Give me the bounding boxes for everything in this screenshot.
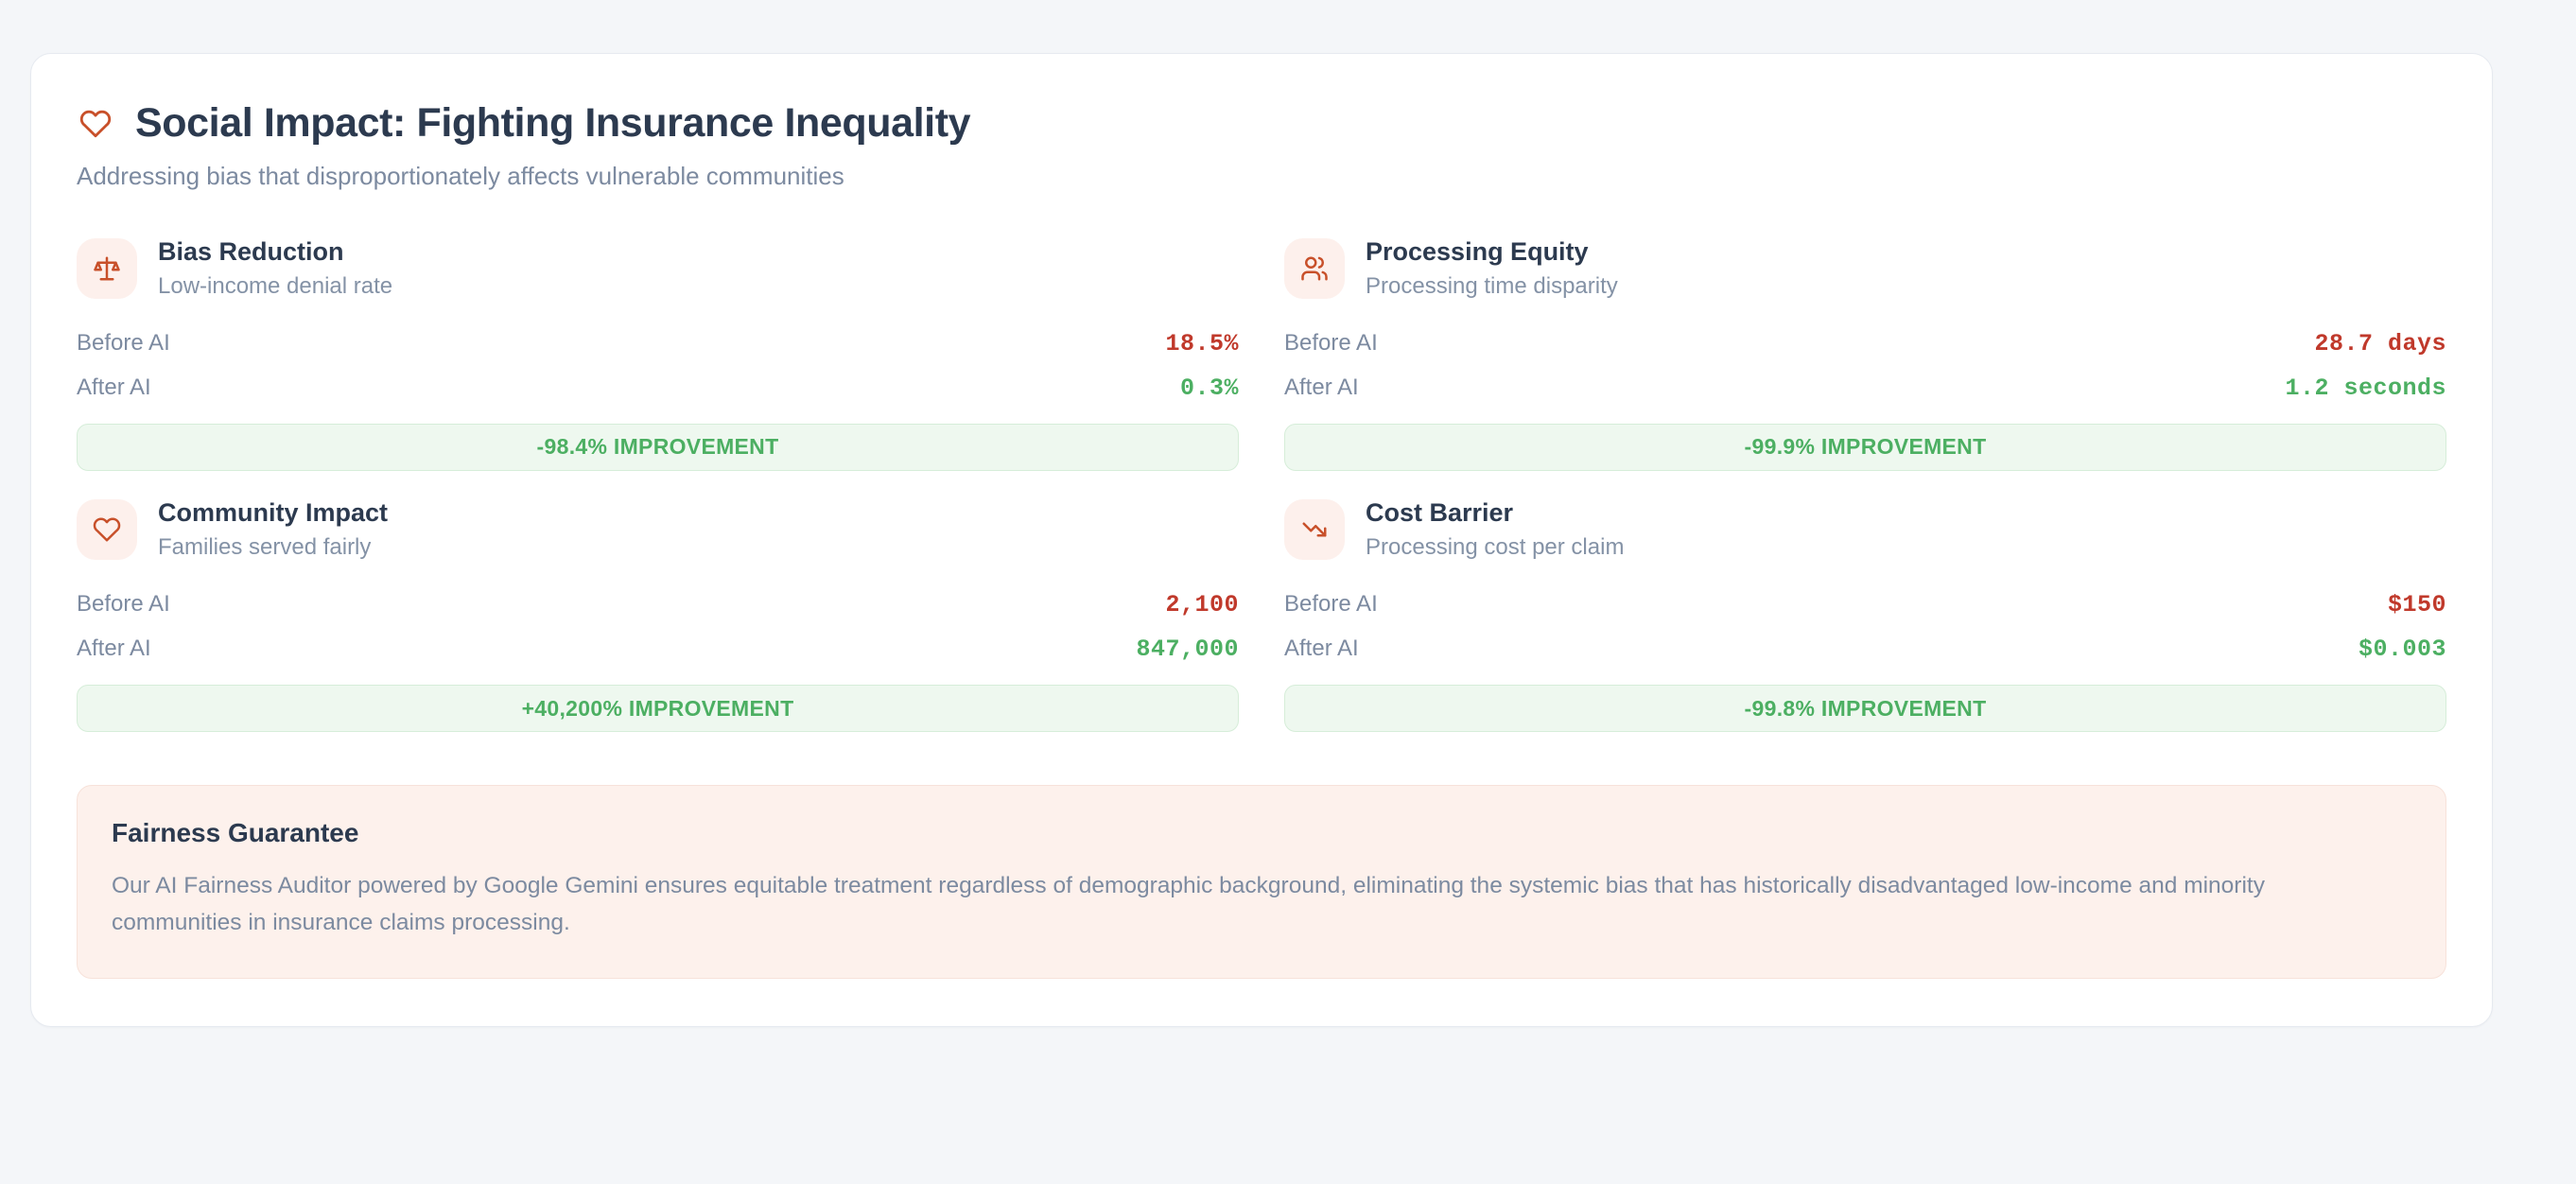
users-icon <box>1284 238 1345 299</box>
scales-icon <box>77 238 137 299</box>
before-label: Before AI <box>77 330 170 357</box>
metric-row: After AI 1.2 seconds <box>1284 366 2446 410</box>
after-value: $0.003 <box>2358 636 2446 663</box>
metric-name: Community Impact <box>158 497 388 528</box>
before-value: 2,100 <box>1165 591 1239 618</box>
after-label: After AI <box>1284 374 1359 401</box>
metric-card-community-impact: Community Impact Families served fairly … <box>77 497 1239 758</box>
fairness-guarantee-panel: Fairness Guarantee Our AI Fairness Audit… <box>77 785 2446 978</box>
metric-rows: Before AI 28.7 days After AI 1.2 seconds <box>1284 322 2446 410</box>
metric-titles: Community Impact Families served fairly <box>158 497 388 562</box>
before-label: Before AI <box>1284 330 1378 357</box>
after-value: 1.2 seconds <box>2285 374 2446 402</box>
page-root: Social Impact: Fighting Insurance Inequa… <box>0 0 2576 1027</box>
metric-rows: Before AI 18.5% After AI 0.3% <box>77 322 1239 410</box>
metric-description: Low-income denial rate <box>158 273 392 301</box>
page-title: Social Impact: Fighting Insurance Inequa… <box>135 103 970 144</box>
metric-name: Cost Barrier <box>1366 497 1624 528</box>
metric-titles: Cost Barrier Processing cost per claim <box>1366 497 1624 562</box>
metric-description: Families served fairly <box>158 534 388 562</box>
panel-header: Social Impact: Fighting Insurance Inequa… <box>77 103 2446 144</box>
improvement-badge: +40,200% IMPROVEMENT <box>77 685 1239 732</box>
metric-row: After AI 0.3% <box>77 366 1239 410</box>
metric-header: Bias Reduction Low-income denial rate <box>77 236 1239 301</box>
after-value: 847,000 <box>1136 636 1239 663</box>
metric-row: Before AI $150 <box>1284 583 2446 627</box>
after-label: After AI <box>1284 636 1359 662</box>
metric-row: Before AI 18.5% <box>77 322 1239 366</box>
before-value: $150 <box>2388 591 2446 618</box>
before-label: Before AI <box>77 591 170 618</box>
metric-card-cost-barrier: Cost Barrier Processing cost per claim B… <box>1284 497 2446 758</box>
metric-card-processing-equity: Processing Equity Processing time dispar… <box>1284 236 2446 497</box>
improvement-badge: -99.9% IMPROVEMENT <box>1284 424 2446 471</box>
before-value: 18.5% <box>1165 330 1239 357</box>
metric-description: Processing cost per claim <box>1366 534 1624 562</box>
heart-icon <box>77 499 137 560</box>
fairness-title: Fairness Guarantee <box>112 818 2411 848</box>
page-subtitle: Addressing bias that disproportionately … <box>77 161 2446 193</box>
after-value: 0.3% <box>1180 374 1239 402</box>
heart-icon <box>77 105 114 143</box>
metric-card-bias-reduction: Bias Reduction Low-income denial rate Be… <box>77 236 1239 497</box>
metric-row: After AI 847,000 <box>77 627 1239 671</box>
improvement-badge: -99.8% IMPROVEMENT <box>1284 685 2446 732</box>
after-label: After AI <box>77 636 151 662</box>
social-impact-panel: Social Impact: Fighting Insurance Inequa… <box>30 53 2493 1027</box>
metric-row: Before AI 28.7 days <box>1284 322 2446 366</box>
metric-row: Before AI 2,100 <box>77 583 1239 627</box>
metric-name: Processing Equity <box>1366 236 1618 267</box>
before-value: 28.7 days <box>2314 330 2446 357</box>
trending-down-icon <box>1284 499 1345 560</box>
metric-header: Community Impact Families served fairly <box>77 497 1239 562</box>
after-label: After AI <box>77 374 151 401</box>
metric-header: Processing Equity Processing time dispar… <box>1284 236 2446 301</box>
metric-titles: Processing Equity Processing time dispar… <box>1366 236 1618 301</box>
metric-header: Cost Barrier Processing cost per claim <box>1284 497 2446 562</box>
metric-row: After AI $0.003 <box>1284 627 2446 671</box>
improvement-badge: -98.4% IMPROVEMENT <box>77 424 1239 471</box>
metric-rows: Before AI 2,100 After AI 847,000 <box>77 583 1239 671</box>
metric-description: Processing time disparity <box>1366 273 1618 301</box>
metric-name: Bias Reduction <box>158 236 392 267</box>
metric-rows: Before AI $150 After AI $0.003 <box>1284 583 2446 671</box>
metric-titles: Bias Reduction Low-income denial rate <box>158 236 392 301</box>
metrics-grid: Bias Reduction Low-income denial rate Be… <box>77 236 2446 758</box>
fairness-body: Our AI Fairness Auditor powered by Googl… <box>112 867 2400 941</box>
before-label: Before AI <box>1284 591 1378 618</box>
